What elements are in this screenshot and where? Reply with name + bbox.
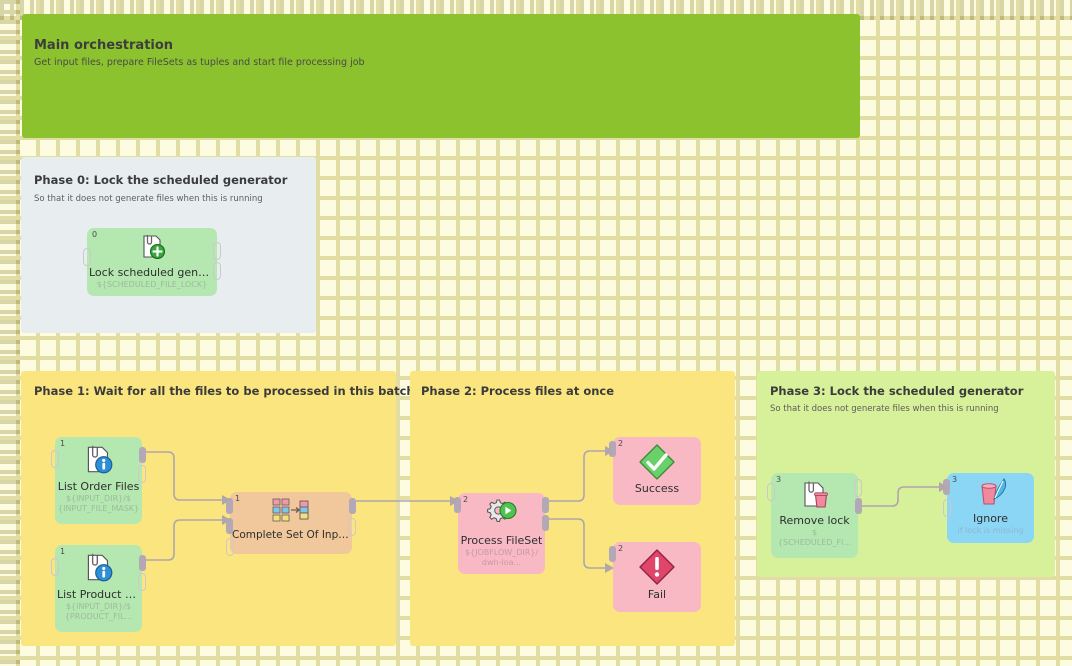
node-label: Complete Set Of Input Files (232, 529, 350, 542)
node-subtitle: ${INPUT_DIR}/$ {INPUT_FILE_MASK} (58, 494, 139, 514)
tuple-aggregate-icon (230, 496, 352, 524)
panel-main-orchestration[interactable]: Main orchestration Get input files, prep… (22, 14, 860, 138)
node-subtitle: if lock is missing (950, 526, 1031, 536)
node-subtitle: ${JOBFLOW_DIR}/ dwh-loa... (461, 548, 542, 568)
node-label: Process FileSet (460, 534, 543, 547)
node-label: List Product Files (57, 588, 140, 601)
node-fail[interactable]: 2 Fail (613, 542, 701, 612)
panel-subtitle-phase-0: So that it does not generate files when … (34, 194, 263, 204)
node-subtitle: ${INPUT_DIR}/$ {PRODUCT_FIL... (58, 602, 139, 622)
panel-title-phase-0: Phase 0: Lock the scheduled generator (34, 173, 287, 187)
success-check-icon (613, 443, 701, 481)
panel-subtitle-main-orchestration: Get input files, prepare FileSets as tup… (34, 57, 365, 68)
node-label: List Order Files (57, 480, 140, 493)
node-label: Fail (615, 588, 699, 601)
node-ignore[interactable]: 3 Ignore if lock is missing (947, 473, 1034, 543)
document-info-icon (55, 442, 142, 478)
node-process-fileset[interactable]: 2 Process FileSet ${JOBFLOW_DIR}/ dwh-lo… (458, 493, 545, 574)
node-label: Lock scheduled generator (89, 266, 215, 279)
node-lock-scheduled-generator[interactable]: 0 Lock scheduled generator ${SCHEDULED_F… (87, 228, 217, 296)
panel-title-phase-2: Phase 2: Process files at once (421, 384, 614, 398)
node-success[interactable]: 2 Success (613, 437, 701, 505)
document-add-icon (87, 232, 217, 262)
document-info-icon (55, 550, 142, 586)
document-delete-icon (771, 478, 858, 512)
node-complete-set-of-input-files[interactable]: 1 Complete Set Of Input Files (230, 492, 352, 554)
workflow-canvas[interactable]: Main orchestration Get input files, prep… (0, 0, 1072, 666)
bucket-feather-icon (947, 477, 1034, 509)
node-label: Success (615, 482, 699, 495)
node-label: Remove lock (773, 514, 856, 527)
node-label: Ignore (949, 512, 1032, 525)
node-list-order-files[interactable]: 1 List Order Files ${INPUT_DIR}/$ {INPUT… (55, 437, 142, 524)
node-subtitle: ${SCHEDULED_FILE_LOCK} (90, 280, 214, 290)
panel-title-phase-1: Phase 1: Wait for all the files to be pr… (34, 384, 415, 398)
gear-play-icon (458, 497, 545, 529)
node-remove-lock[interactable]: 3 Remove lock $ {SCHEDULED_FI... (771, 473, 858, 558)
panel-title-main-orchestration: Main orchestration (34, 38, 173, 53)
panel-title-phase-3: Phase 3: Lock the scheduled generator (770, 384, 1023, 398)
panel-subtitle-phase-3: So that it does not generate files when … (770, 404, 999, 414)
fail-exclamation-icon (613, 548, 701, 586)
node-list-product-files[interactable]: 1 List Product Files ${INPUT_DIR}/$ {PRO… (55, 545, 142, 632)
node-subtitle: $ {SCHEDULED_FI... (774, 528, 855, 548)
